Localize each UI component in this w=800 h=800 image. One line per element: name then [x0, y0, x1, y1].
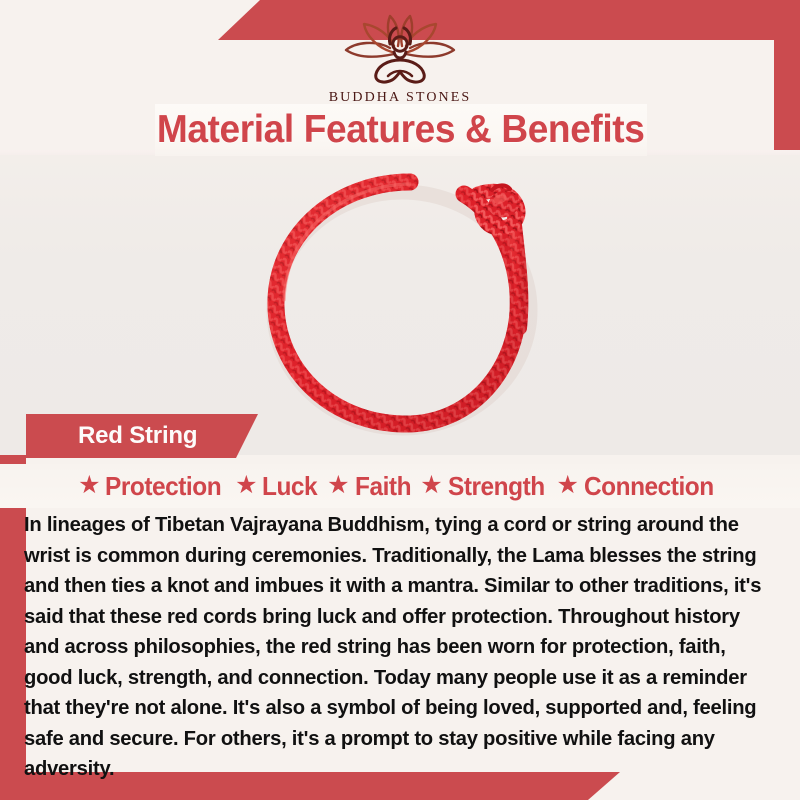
benefit-label: Strength: [448, 471, 545, 502]
benefit-item-protection: ★ Protection: [78, 471, 229, 502]
brand-name: BUDDHA STONES: [0, 90, 800, 106]
page-title: Material Features & Benefits: [157, 108, 645, 152]
product-image-red-string-bracelet: [242, 160, 572, 445]
material-label: Red String: [78, 422, 197, 450]
benefit-item-luck: ★ Luck: [235, 471, 321, 502]
star-icon: ★: [78, 473, 100, 498]
benefits-row: ★ Protection ★ Luck ★ Faith ★ Strength ★…: [0, 464, 800, 508]
star-icon: ★: [557, 473, 579, 498]
star-icon: ★: [420, 473, 442, 498]
benefit-item-connection: ★ Connection: [557, 471, 722, 502]
infographic-page: BUDDHA STONES Material Features & Benefi…: [0, 0, 800, 800]
title-banner: Material Features & Benefits: [155, 104, 647, 156]
material-ribbon: Red String: [26, 414, 258, 458]
benefit-item-faith: ★ Faith: [327, 471, 414, 502]
lotus-meditation-icon: [334, 14, 466, 88]
description-block: In lineages of Tibetan Vajrayana Buddhis…: [24, 510, 780, 785]
star-icon: ★: [235, 473, 257, 498]
benefit-label: Luck: [262, 471, 317, 502]
benefit-label: Connection: [584, 471, 714, 502]
description-text: In lineages of Tibetan Vajrayana Buddhis…: [24, 510, 769, 785]
benefit-label: Protection: [105, 471, 221, 502]
star-icon: ★: [327, 473, 349, 498]
benefit-label: Faith: [355, 471, 411, 502]
brand-logo: BUDDHA STONES: [0, 14, 800, 106]
benefit-item-strength: ★ Strength: [420, 471, 550, 502]
